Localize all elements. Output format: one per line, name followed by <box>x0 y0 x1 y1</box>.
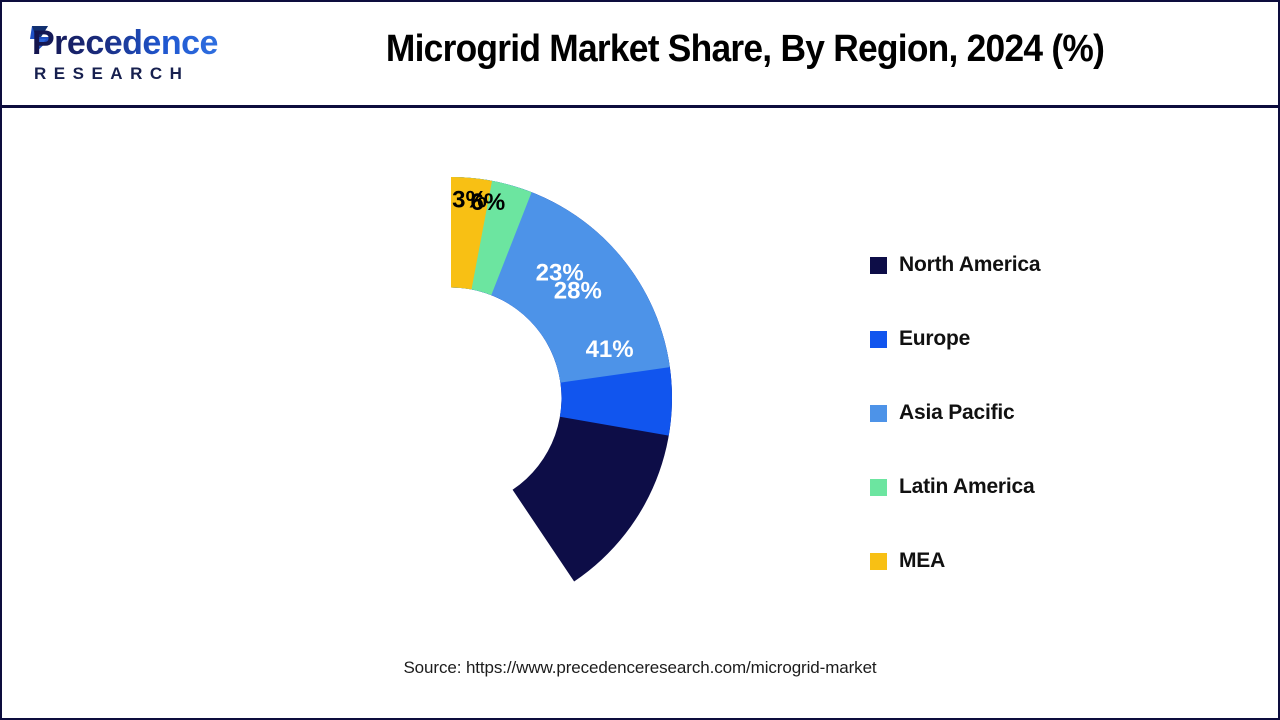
donut-chart: 41%28%23%6%3% <box>230 177 672 619</box>
donut-chart-svg: 41%28%23%6%3% <box>230 177 672 619</box>
legend-swatch-icon <box>870 479 887 496</box>
logo-wordmark: Precedence <box>32 23 218 63</box>
source-caption: Source: https://www.precedenceresearch.c… <box>2 658 1278 678</box>
legend-item-mea[interactable]: MEA <box>870 524 1200 598</box>
legend-label: Asia Pacific <box>899 401 1015 425</box>
donut-slices <box>451 177 672 582</box>
page-header: Precedence RESEARCH Microgrid Market Sha… <box>2 2 1278 108</box>
legend-label: MEA <box>899 549 945 573</box>
chart-body: 41%28%23%6%3% North America Europe Asia … <box>2 108 1278 719</box>
precedence-research-logo: Precedence RESEARCH <box>16 18 226 92</box>
slice-value-label: 41% <box>586 336 634 363</box>
legend-item-europe[interactable]: Europe <box>870 302 1200 376</box>
legend-item-asia-pacific[interactable]: Asia Pacific <box>870 376 1200 450</box>
chart-legend: North America Europe Asia Pacific Latin … <box>870 228 1200 598</box>
chart-page: Precedence RESEARCH Microgrid Market Sha… <box>0 0 1280 720</box>
legend-item-latin-america[interactable]: Latin America <box>870 450 1200 524</box>
legend-label: North America <box>899 253 1040 277</box>
page-title: Microgrid Market Share, By Region, 2024 … <box>287 28 1204 71</box>
legend-item-north-america[interactable]: North America <box>870 228 1200 302</box>
legend-swatch-icon <box>870 405 887 422</box>
legend-swatch-icon <box>870 257 887 274</box>
logo-subtitle: RESEARCH <box>34 64 189 84</box>
legend-swatch-icon <box>870 331 887 348</box>
legend-label: Latin America <box>899 475 1035 499</box>
slice-value-label: 3% <box>452 187 487 214</box>
slice-value-label: 23% <box>536 259 584 286</box>
legend-swatch-icon <box>870 553 887 570</box>
legend-label: Europe <box>899 327 970 351</box>
